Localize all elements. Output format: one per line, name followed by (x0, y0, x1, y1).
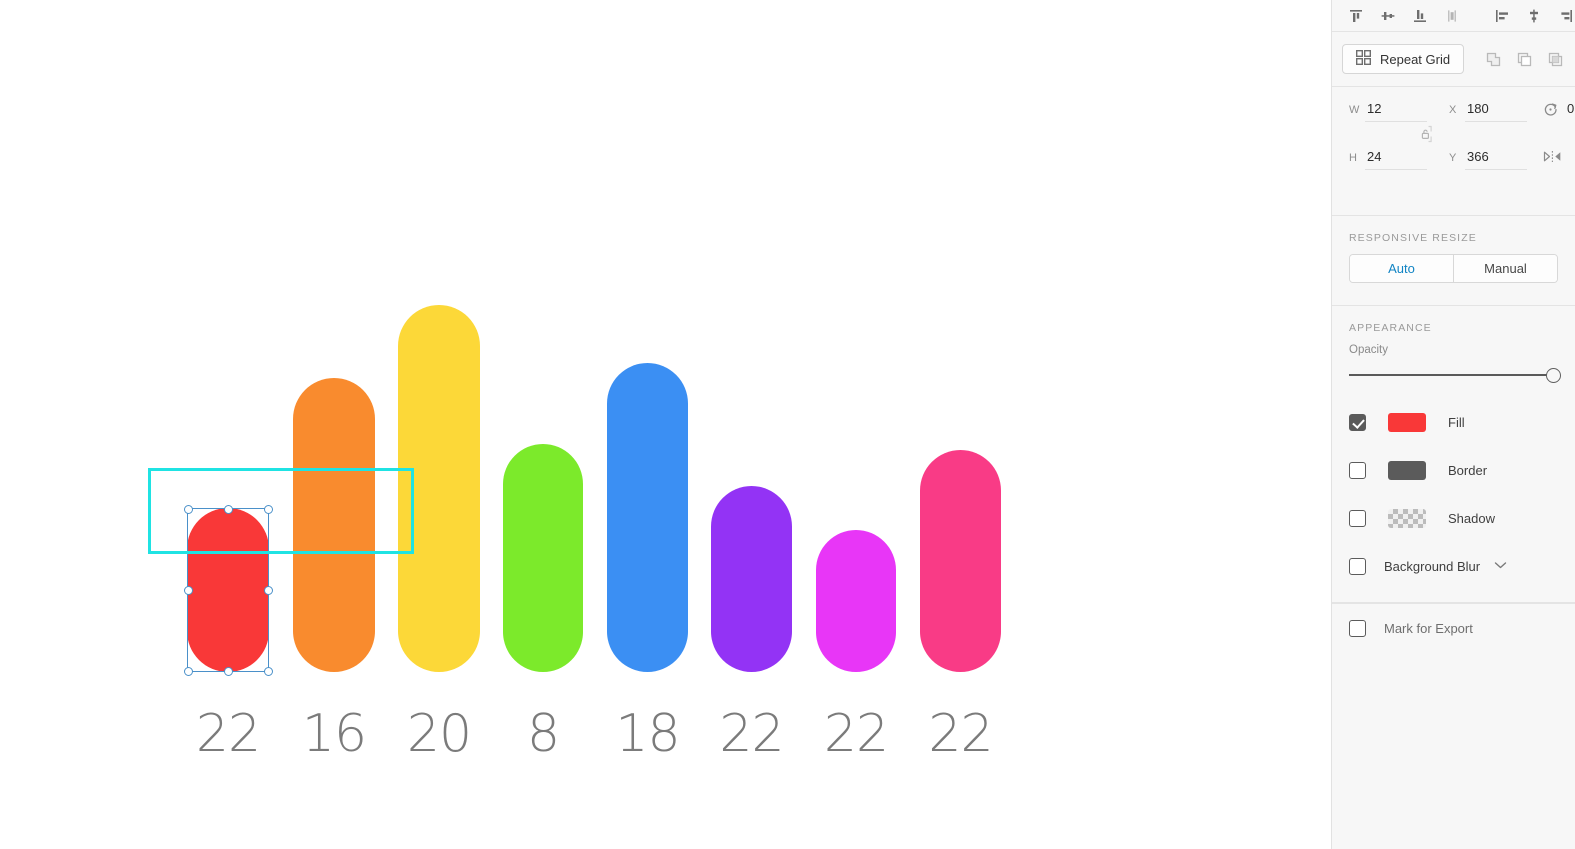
y-label: Y (1449, 152, 1465, 164)
design-canvas[interactable]: 221620818222222 (0, 0, 1331, 849)
bar-4[interactable] (607, 363, 688, 672)
horizontal-align-group (1486, 0, 1575, 31)
height-input[interactable] (1365, 149, 1427, 170)
grid-icon (1356, 50, 1371, 68)
property-row-shadow[interactable]: Shadow (1332, 494, 1575, 542)
rotation-icon[interactable] (1527, 101, 1558, 117)
property-label: Shadow (1448, 511, 1495, 526)
align-toolbar-section (1332, 0, 1575, 32)
bar-label-7: 22 (890, 708, 1031, 760)
background-blur-checkbox[interactable] (1349, 558, 1366, 575)
align-bottom-icon[interactable] (1404, 0, 1436, 31)
opacity-knob[interactable] (1546, 368, 1561, 383)
align-vertical-center-icon[interactable] (1372, 0, 1404, 31)
property-label: Border (1448, 463, 1487, 478)
property-row-border[interactable]: Border (1332, 446, 1575, 494)
transform-row-1: W X 0 (1332, 101, 1575, 149)
align-toolbar (1332, 0, 1575, 31)
border-color-swatch[interactable] (1388, 461, 1426, 480)
width-input[interactable] (1365, 101, 1427, 122)
opacity-slider[interactable] (1349, 366, 1561, 384)
boolean-subtract-icon[interactable] (1509, 44, 1540, 74)
x-field: X (1427, 101, 1527, 122)
boolean-union-icon[interactable] (1478, 44, 1509, 74)
width-field: W (1332, 101, 1427, 122)
repeat-grid-row: Repeat Grid (1332, 32, 1575, 86)
repeat-grid-section: Repeat Grid (1332, 32, 1575, 87)
bar-5[interactable] (711, 486, 792, 672)
mark-for-export-checkbox[interactable] (1349, 620, 1366, 637)
height-label: H (1349, 152, 1365, 164)
fill-color-swatch[interactable] (1388, 413, 1426, 432)
x-label: X (1449, 104, 1465, 116)
flip-horizontal-icon[interactable] (1527, 149, 1562, 163)
align-top-icon[interactable] (1340, 0, 1372, 31)
repeat-grid-button[interactable]: Repeat Grid (1342, 44, 1464, 74)
x-input[interactable] (1465, 101, 1527, 122)
property-label: Background Blur (1384, 559, 1480, 574)
appearance-title: APPEARANCE (1332, 306, 1575, 344)
y-field: Y (1427, 149, 1527, 170)
align-horizontal-center-icon[interactable] (1518, 0, 1550, 31)
bar-7[interactable] (920, 450, 1001, 672)
property-row-fill[interactable]: Fill (1332, 398, 1575, 446)
transform-section: W X 0 H Y (1332, 87, 1575, 216)
shadow-checkbox[interactable] (1349, 510, 1366, 527)
align-right-icon[interactable] (1550, 0, 1575, 31)
repeat-grid-label: Repeat Grid (1380, 52, 1450, 67)
design-tool-window: 221620818222222 (0, 0, 1575, 849)
responsive-resize-auto[interactable]: Auto (1350, 255, 1453, 282)
responsive-resize-section: RESPONSIVE RESIZE Auto Manual (1332, 216, 1575, 306)
transform-row-2: H Y (1332, 149, 1575, 197)
lock-aspect-ratio-icon[interactable] (1420, 125, 1436, 143)
distribute-vertical-icon[interactable] (1436, 0, 1468, 31)
export-section: Mark for Export (1332, 603, 1575, 652)
boolean-intersect-icon[interactable] (1540, 44, 1571, 74)
vertical-align-group (1340, 0, 1468, 31)
opacity-label: Opacity (1332, 344, 1575, 366)
width-label: W (1349, 104, 1365, 116)
chevron-down-icon[interactable] (1494, 559, 1507, 573)
property-row-background-blur[interactable]: Background Blur (1332, 542, 1575, 590)
responsive-resize-title: RESPONSIVE RESIZE (1332, 216, 1575, 254)
responsive-resize-manual[interactable]: Manual (1453, 255, 1557, 282)
resize-handle-sw[interactable] (184, 667, 193, 676)
flip-vertical-icon[interactable] (1562, 149, 1575, 163)
bar-3[interactable] (503, 444, 583, 672)
property-inspector-panel: Repeat Grid W (1331, 0, 1575, 849)
y-input[interactable] (1465, 149, 1527, 170)
mark-for-export-row[interactable]: Mark for Export (1332, 604, 1575, 652)
opacity-track (1349, 374, 1553, 376)
boolean-ops-group (1478, 44, 1571, 74)
responsive-resize-toggle: Auto Manual (1349, 254, 1558, 283)
border-checkbox[interactable] (1349, 462, 1366, 479)
resize-handle-se[interactable] (264, 667, 273, 676)
appearance-section: APPEARANCE Opacity FillBorderShadowBackg… (1332, 306, 1575, 603)
shadow-color-swatch[interactable] (1388, 509, 1426, 528)
mark-for-export-label: Mark for Export (1384, 621, 1473, 636)
property-label: Fill (1448, 415, 1465, 430)
fill-checkbox[interactable] (1349, 414, 1366, 431)
appearance-properties: FillBorderShadowBackground Blur (1332, 398, 1575, 602)
rotation-value: 0 (1558, 101, 1574, 116)
align-left-icon[interactable] (1486, 0, 1518, 31)
marquee-selection-rectangle[interactable] (148, 468, 414, 554)
height-field: H (1332, 149, 1427, 170)
bar-6[interactable] (816, 530, 896, 672)
